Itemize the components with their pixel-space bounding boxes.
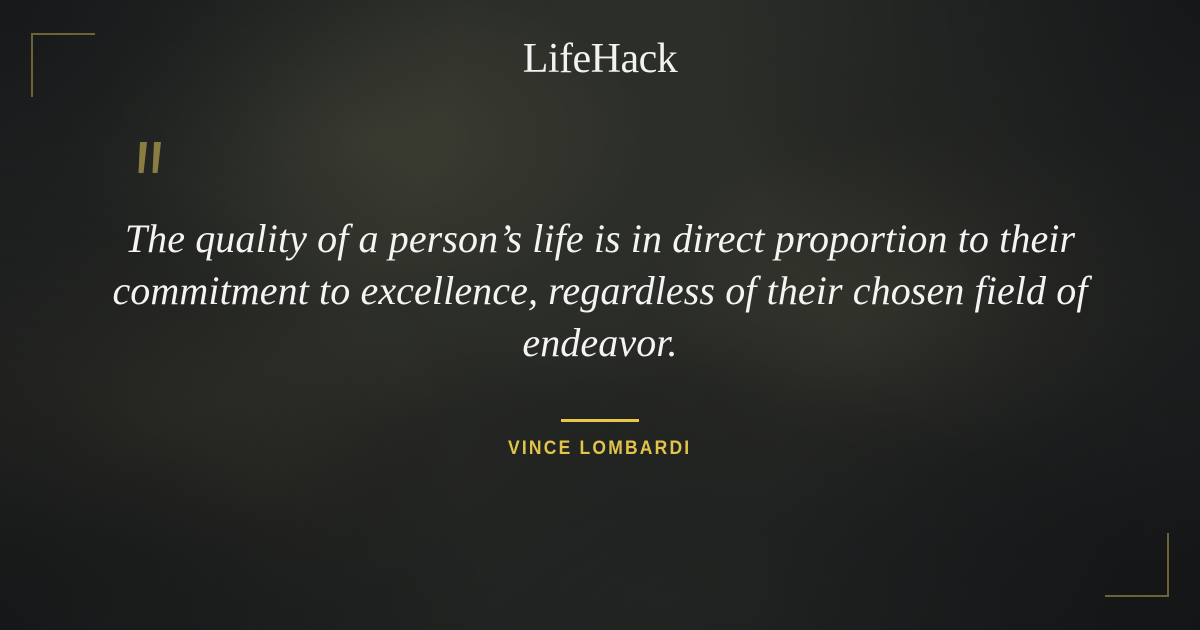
- quote-card: LifeHack The quality of a person’s life …: [0, 0, 1200, 630]
- brand-logo-text: LifeHack: [523, 38, 678, 80]
- divider: [0, 409, 1200, 427]
- quote-attribution: VINCE LOMBARDI: [0, 438, 1200, 460]
- double-quote-icon: [132, 140, 176, 190]
- author-name: VINCE LOMBARDI: [508, 438, 691, 460]
- quote-text: The quality of a person’s life is in dir…: [90, 213, 1110, 369]
- divider-rule: [561, 419, 639, 422]
- quote-body: The quality of a person’s life is in dir…: [90, 213, 1110, 369]
- brand-logo: LifeHack: [0, 38, 1200, 80]
